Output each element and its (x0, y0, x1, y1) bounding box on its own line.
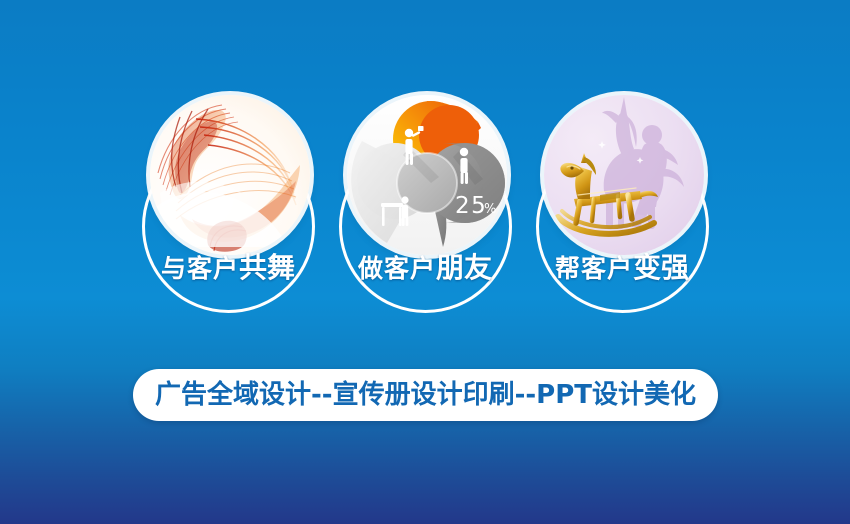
card-label-prefix: 帮客户 (555, 254, 633, 283)
card-label-emphasis: 共舞 (239, 251, 295, 284)
card-label-be-client-friend: 做客户朋友 (325, 253, 525, 284)
card-label-emphasis: 变强 (633, 251, 689, 284)
feature-card-row: 与客户共舞 (0, 0, 850, 360)
services-banner-text: 广告全域设计--宣传册设计印刷--PPT设计美化 (155, 380, 696, 410)
feature-card-make-client-stronger[interactable]: 帮客户变强 (522, 85, 722, 345)
card-artwork-rocking-horse (544, 95, 704, 255)
svg-text:%: % (484, 202, 496, 217)
services-banner[interactable]: 广告全域设计--宣传册设计印刷--PPT设计美化 (133, 369, 718, 421)
card-artwork-donut-infographic: 25 % (347, 95, 507, 255)
card-label-prefix: 与客户 (161, 254, 239, 283)
feature-card-be-client-friend[interactable]: 25 % 做客户朋友 (325, 85, 525, 345)
promo-slide: 与客户共舞 (0, 0, 850, 524)
card-label-dance-with-client: 与客户共舞 (128, 253, 328, 284)
svg-text:25: 25 (455, 193, 487, 219)
card-label-emphasis: 朋友 (436, 251, 492, 284)
card-label-prefix: 做客户 (358, 254, 436, 283)
card-label-make-client-stronger: 帮客户变强 (522, 253, 722, 284)
feature-card-dance-with-client[interactable]: 与客户共舞 (128, 85, 328, 345)
card-artwork-abstract-smoke (150, 95, 310, 255)
